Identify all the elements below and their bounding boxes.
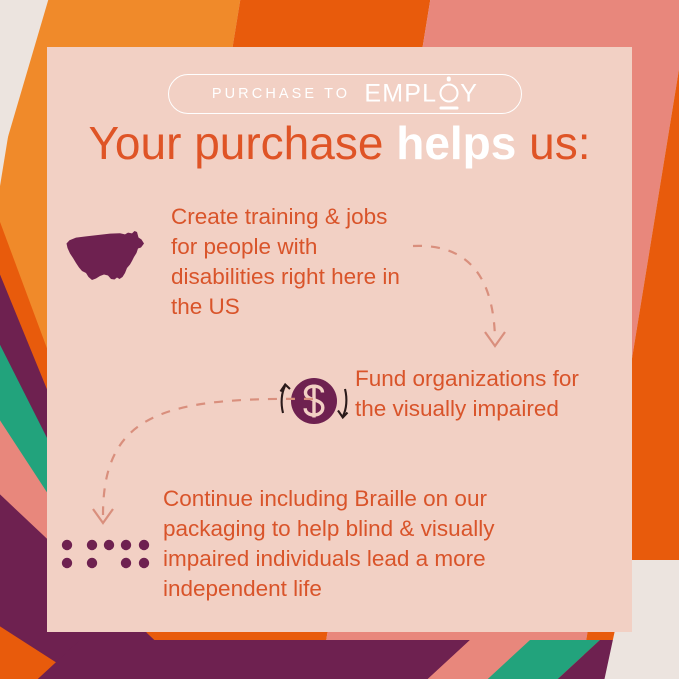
brand-prefix: PURCHASE TO — [212, 86, 350, 102]
brand-word-part-1: EMPL — [364, 80, 437, 108]
brand-wordmark: PURCHASE TO EMPLY — [168, 82, 522, 107]
headline-trail: us: — [516, 117, 590, 169]
headline-lead: Your purchase — [88, 117, 396, 169]
benefit-text-fund-organizations: Fund organizations for the visually impa… — [355, 364, 615, 424]
brand-word-part-2: Y — [460, 80, 478, 108]
benefit-text-training-jobs: Create training & jobs for people with d… — [171, 202, 411, 322]
page-title: Your purchase helps us: — [47, 120, 632, 166]
braille-dots-icon — [59, 534, 159, 574]
benefit-text-braille-packaging: Continue including Braille on our packag… — [163, 484, 548, 604]
brand-lockup: PURCHASE TO EMPLY — [168, 74, 522, 114]
headline-emphasis: helps — [396, 117, 516, 169]
person-in-circle-icon — [437, 82, 460, 107]
dashed-arrow-curve-down-icon — [409, 234, 529, 366]
poster-canvas: PURCHASE TO EMPLY Your purchase helps us… — [0, 0, 679, 679]
us-map-icon — [62, 227, 154, 289]
content-card: PURCHASE TO EMPLY Your purchase helps us… — [47, 47, 632, 632]
